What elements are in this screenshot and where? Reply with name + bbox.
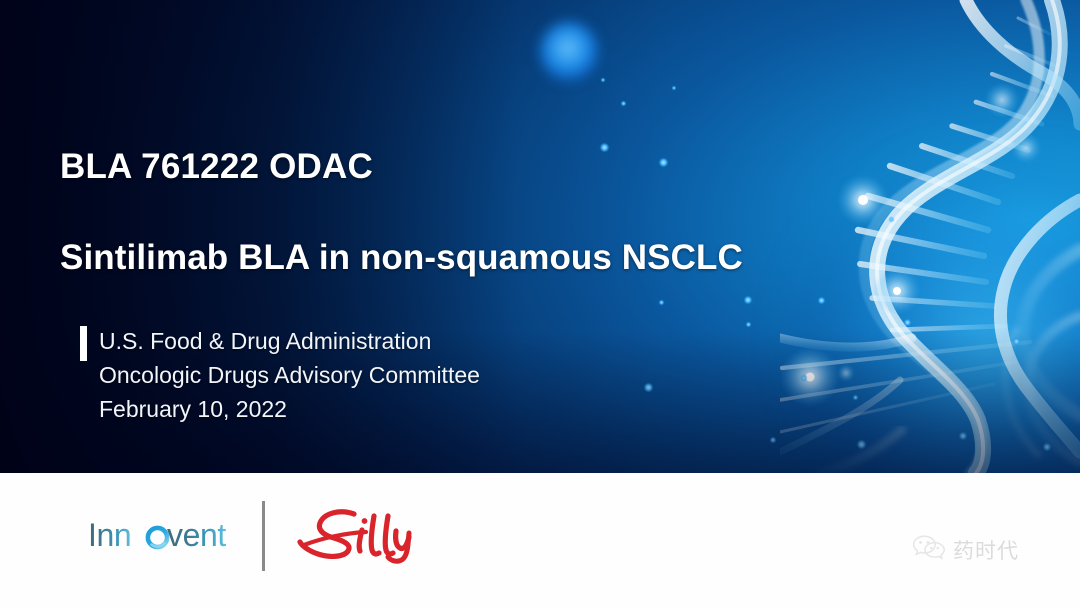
watermark: 药时代 xyxy=(912,534,1019,566)
presentation-slide: BLA 761222 ODAC Sintilimab BLA in non-sq… xyxy=(0,0,1080,608)
subtitle-lines: U.S. Food & Drug Administration Oncologi… xyxy=(99,324,480,426)
accent-bar xyxy=(80,326,87,361)
slide-hero-panel: BLA 761222 ODAC Sintilimab BLA in non-sq… xyxy=(0,0,1080,473)
svg-text:vent: vent xyxy=(167,517,226,553)
wechat-icon xyxy=(912,534,946,566)
innovent-logo: Inn vent Innovent xyxy=(88,516,240,556)
slide-title-line-1: BLA 761222 ODAC xyxy=(60,147,373,187)
slide-title-line-2: Sintilimab BLA in non-squamous NSCLC xyxy=(60,238,743,278)
subtitle-line-date: February 10, 2022 xyxy=(99,392,480,426)
subtitle-line-committee: Oncologic Drugs Advisory Committee xyxy=(99,358,480,392)
sponsor-logo-row: Inn vent Innovent xyxy=(88,500,420,572)
svg-text:Inn: Inn xyxy=(88,517,131,553)
logo-divider xyxy=(262,501,265,571)
lilly-logo: Lilly xyxy=(296,508,420,564)
subtitle-block: U.S. Food & Drug Administration Oncologi… xyxy=(80,324,480,426)
subtitle-line-agency: U.S. Food & Drug Administration xyxy=(99,324,480,358)
watermark-text: 药时代 xyxy=(953,535,1019,565)
